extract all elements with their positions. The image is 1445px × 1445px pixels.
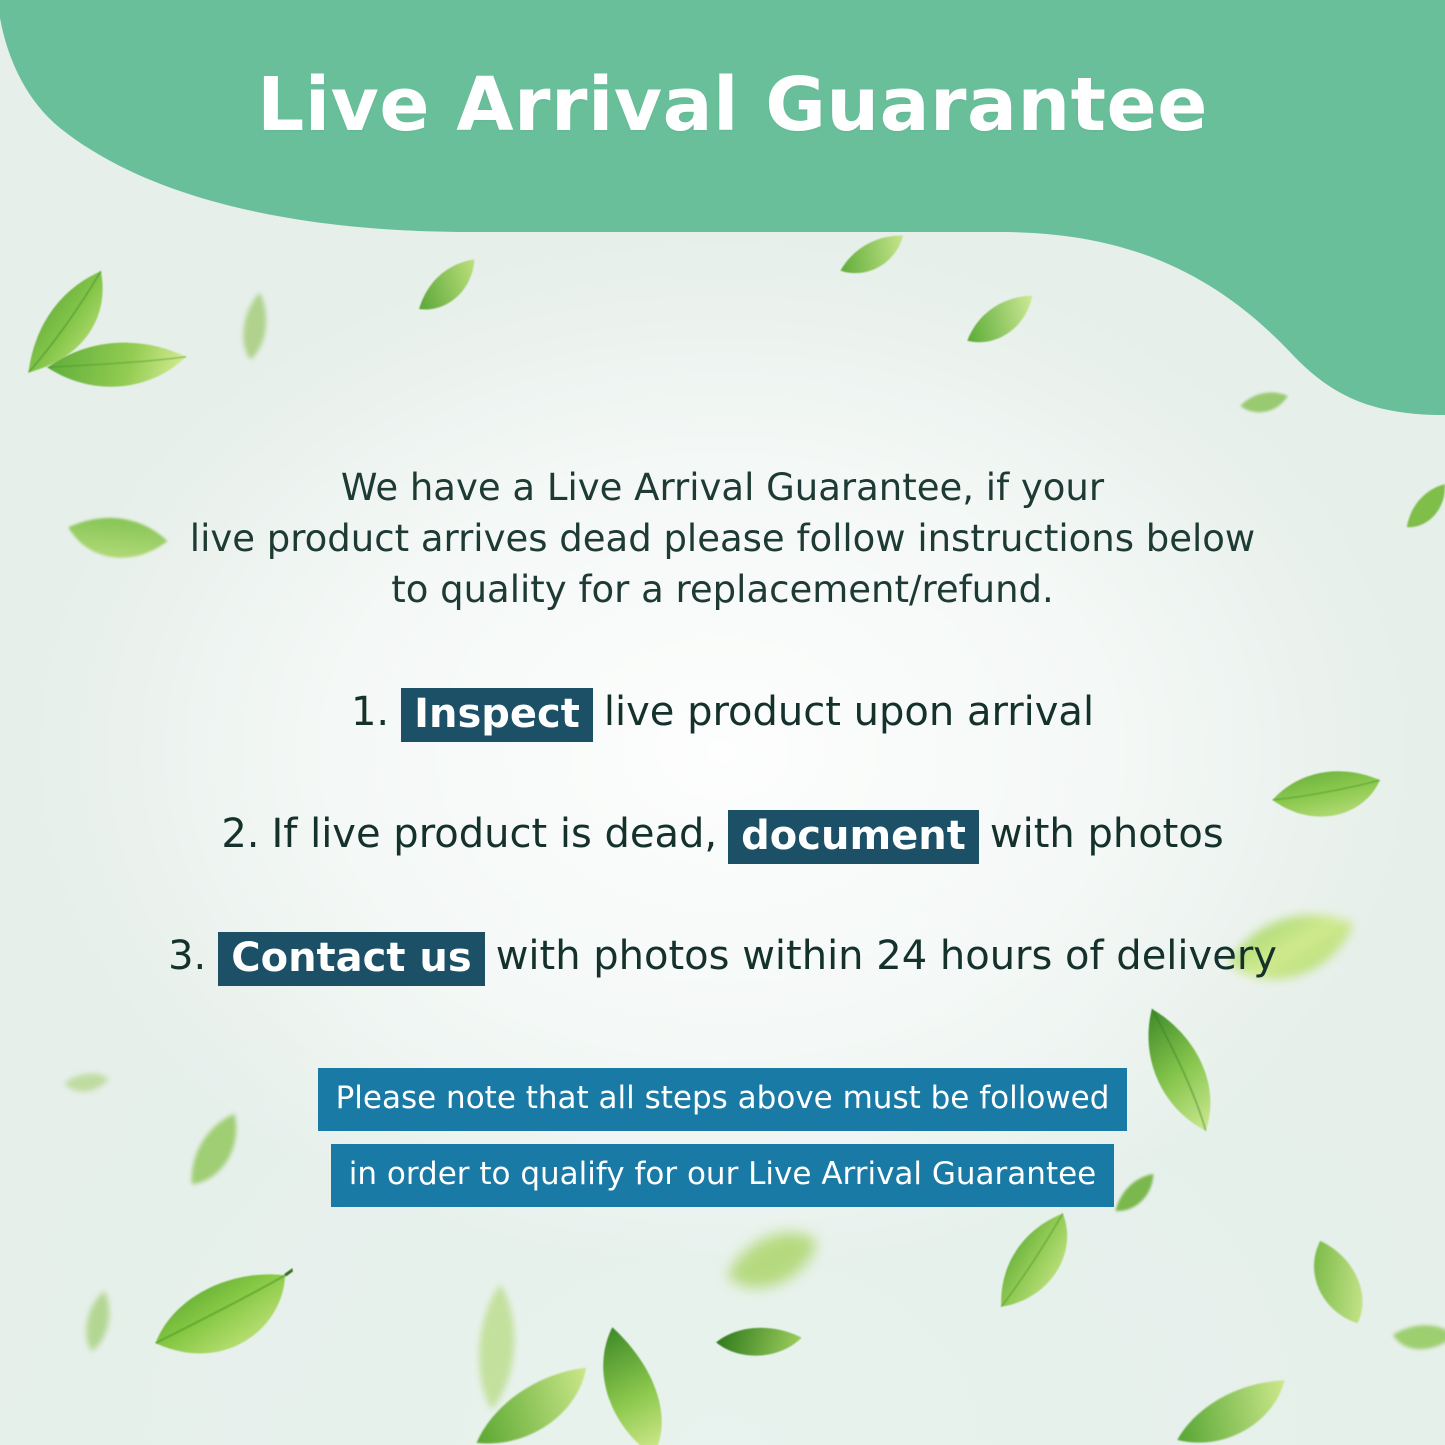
leaf-icon bbox=[712, 1313, 804, 1377]
leaf-icon bbox=[1168, 1376, 1297, 1445]
step-chip-contact-us[interactable]: Contact us bbox=[218, 932, 484, 986]
step-item-2: 2. If live product is dead, document wit… bbox=[0, 808, 1445, 862]
leaf-icon bbox=[464, 1280, 531, 1414]
leaf-icon bbox=[42, 315, 191, 416]
leaf-icon bbox=[836, 233, 911, 282]
step-item-3: 3. Contact us with photos within 24 hour… bbox=[0, 930, 1445, 984]
leaf-icon bbox=[407, 255, 490, 321]
step-chip-document[interactable]: document bbox=[728, 810, 979, 864]
note-section: Please note that all steps above must be… bbox=[0, 1068, 1445, 1207]
intro-line-3: to quality for a replacement/refund. bbox=[0, 564, 1445, 615]
live-arrival-guarantee-poster: Live Arrival Guarantee bbox=[0, 0, 1445, 1445]
note-bar-line-1: Please note that all steps above must be… bbox=[318, 1068, 1128, 1131]
step-number-2: 2. bbox=[221, 809, 259, 859]
leaf-icon bbox=[971, 1208, 1102, 1326]
intro-paragraph: We have a Live Arrival Guarantee, if you… bbox=[0, 462, 1445, 615]
step-text-3: with photos within 24 hours of delivery bbox=[496, 931, 1277, 981]
step-number-3: 3. bbox=[168, 931, 206, 981]
step-number-1: 1. bbox=[351, 687, 389, 737]
leaf-icon bbox=[563, 1320, 704, 1445]
intro-line-2: live product arrives dead please follow … bbox=[0, 513, 1445, 564]
leaf-icon bbox=[1238, 386, 1290, 422]
leaf-icon bbox=[717, 1219, 827, 1308]
step-item-1: 1. Inspect live product upon arrival bbox=[0, 686, 1445, 740]
step-text-1: live product upon arrival bbox=[604, 687, 1094, 737]
note-bar-line-2: in order to qualify for our Live Arrival… bbox=[331, 1144, 1115, 1207]
leaf-icon bbox=[74, 1285, 123, 1357]
leaf-icon bbox=[143, 1264, 303, 1385]
intro-line-1: We have a Live Arrival Guarantee, if you… bbox=[0, 462, 1445, 513]
leaf-icon bbox=[461, 1361, 604, 1445]
step-text-2-before: If live product is dead, bbox=[271, 809, 717, 859]
leaf-icon bbox=[1386, 1307, 1445, 1371]
leaf-icon bbox=[1287, 1227, 1385, 1339]
step-text-2-after: with photos bbox=[990, 809, 1224, 859]
step-chip-inspect[interactable]: Inspect bbox=[401, 688, 593, 742]
leaf-icon bbox=[0, 263, 138, 387]
page-title: Live Arrival Guarantee bbox=[0, 68, 1445, 142]
steps-list: 1. Inspect live product upon arrival 2. … bbox=[0, 686, 1445, 984]
leaf-icon bbox=[231, 288, 279, 365]
leaf-icon bbox=[958, 291, 1045, 355]
